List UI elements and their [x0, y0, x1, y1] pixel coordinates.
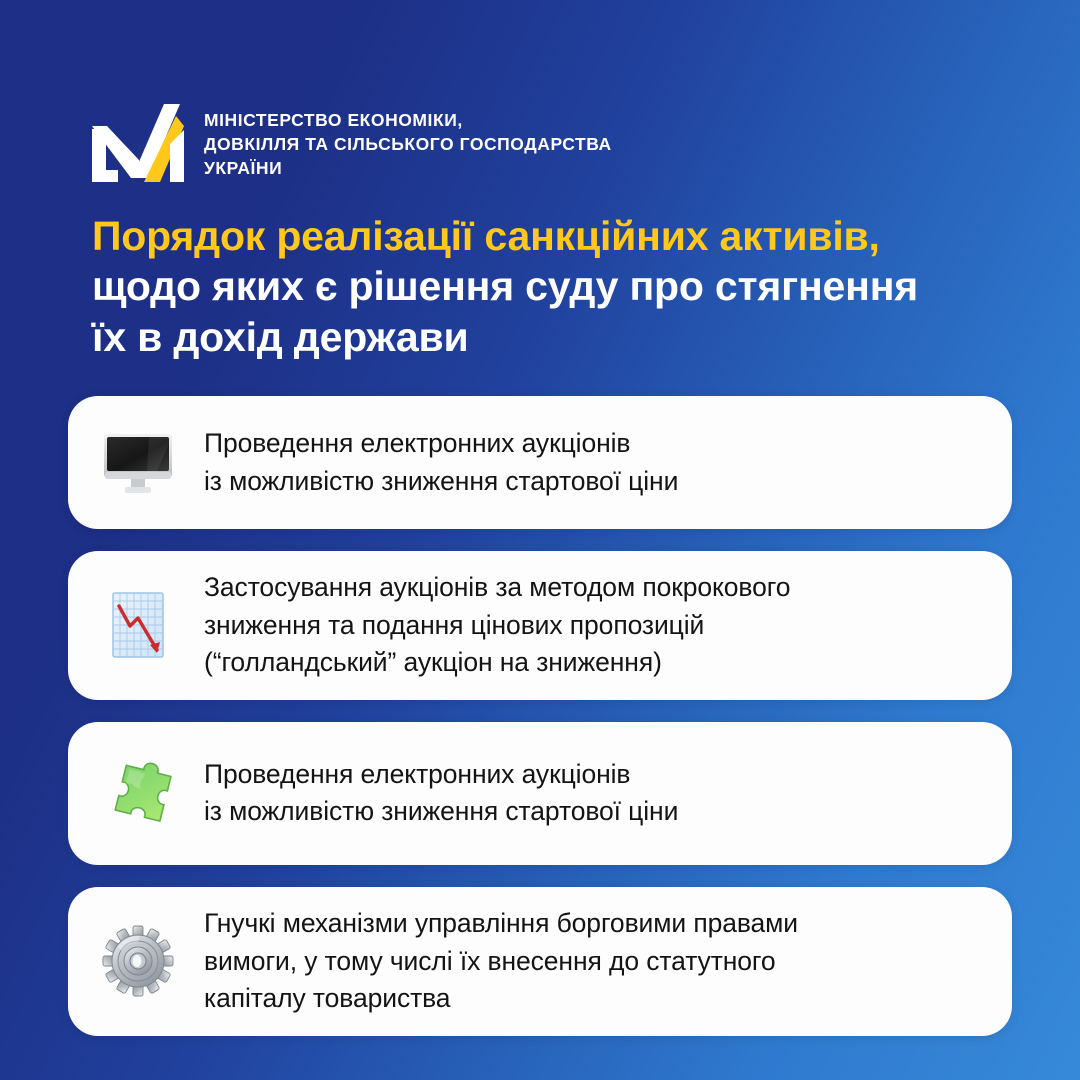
title-line-3: їх в дохід держави: [92, 312, 1032, 362]
list-item[interactable]: Проведення електронних аукціонів із можл…: [68, 722, 1012, 865]
list-item[interactable]: Застосування аукціонів за методом покрок…: [68, 551, 1012, 700]
puzzle-piece-icon: [94, 759, 182, 827]
card-2-line-3: (“голландський” аукціон на зниження): [204, 644, 790, 682]
list-item[interactable]: Проведення електронних аукціонів із можл…: [68, 396, 1012, 529]
card-2-line-1: Застосування аукціонів за методом покрок…: [204, 569, 790, 607]
ministry-m-logo-icon: [92, 104, 184, 182]
brand-line-2: ДОВКІЛЛЯ ТА СІЛЬСЬКОГО ГОСПОДАРСТВА: [204, 134, 612, 155]
brand-line-3: УКРАЇНИ: [204, 158, 612, 179]
title-line-2: щодо яких є рішення суду про стягнення: [92, 261, 1032, 311]
ministry-wordmark: МІНІСТЕРСТВО ЕКОНОМІКИ, ДОВКІЛЛЯ ТА СІЛЬ…: [204, 108, 612, 179]
brand-line-1: МІНІСТЕРСТВО ЕКОНОМІКИ,: [204, 110, 612, 131]
card-4-line-3: капіталу товариства: [204, 980, 798, 1018]
card-list: Проведення електронних аукціонів із можл…: [68, 396, 1012, 1036]
page-title: Порядок реалізації санкційних активів, щ…: [92, 211, 1032, 362]
list-item-text: Проведення електронних аукціонів із можл…: [204, 425, 678, 500]
card-3-line-2: із можливістю зниження стартової ціни: [204, 793, 678, 831]
card-4-line-2: вимоги, у тому числі їх внесення до стат…: [204, 943, 798, 981]
card-2-line-2: зниження та подання цінових пропозицій: [204, 607, 790, 645]
card-3-line-1: Проведення електронних аукціонів: [204, 756, 678, 794]
list-item-text: Застосування аукціонів за методом покрок…: [204, 569, 790, 682]
card-1-line-2: із можливістю зниження стартової ціни: [204, 463, 678, 501]
card-1-line-1: Проведення електронних аукціонів: [204, 425, 678, 463]
card-4-line-1: Гнучкі механізми управління борговими пр…: [204, 905, 798, 943]
list-item-text: Гнучкі механізми управління борговими пр…: [204, 905, 798, 1018]
ministry-brand: МІНІСТЕРСТВО ЕКОНОМІКИ, ДОВКІЛЛЯ ТА СІЛЬ…: [92, 104, 612, 182]
list-item-text: Проведення електронних аукціонів із можл…: [204, 756, 678, 831]
chart-decreasing-icon: [94, 592, 182, 658]
list-item[interactable]: Гнучкі механізми управління борговими пр…: [68, 887, 1012, 1036]
title-line-1: Порядок реалізації санкційних активів,: [92, 211, 1032, 261]
infographic-poster: МІНІСТЕРСТВО ЕКОНОМІКИ, ДОВКІЛЛЯ ТА СІЛЬ…: [0, 0, 1080, 1080]
desktop-monitor-icon: [94, 432, 182, 494]
gear-icon: [94, 925, 182, 997]
